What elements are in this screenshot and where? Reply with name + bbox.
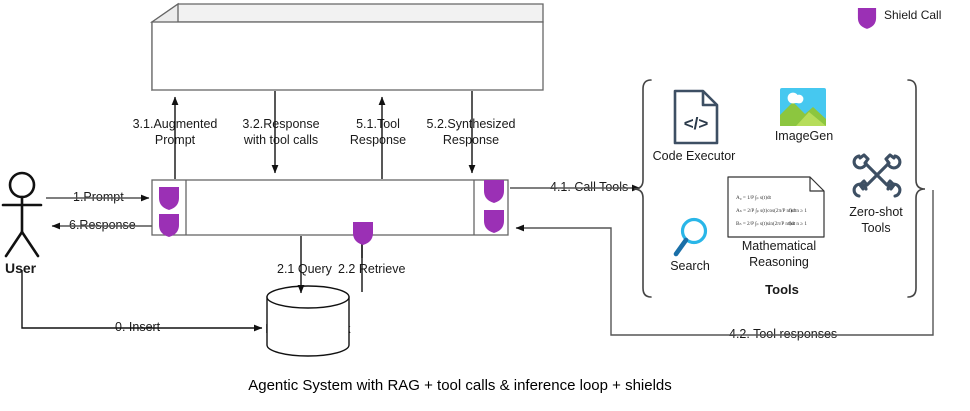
memory-bank-node: [267, 286, 349, 356]
user-executor-connectors: [46, 198, 152, 226]
svg-text:for n ≥ 1: for n ≥ 1: [789, 220, 807, 227]
executor-node: [152, 180, 508, 235]
user-node: [3, 173, 41, 256]
svg-text:Aₙ = 2/P ∫ₚ s(t)cos(2π/P nt)dt: Aₙ = 2/P ∫ₚ s(t)cos(2π/P nt)dt: [736, 207, 797, 214]
diagram-canvas: </> A₀ = 1/P ∫ₚ s(t)dt Aₙ = 2/P ∫ₚ s(t)c…: [0, 0, 970, 411]
svg-text:A₀ = 1/P ∫ₚ s(t)dt: A₀ = 1/P ∫ₚ s(t)dt: [736, 194, 772, 201]
svg-text:Bₙ = 2/P ∫ₚ s(t)sin(2π/P nt)dt: Bₙ = 2/P ∫ₚ s(t)sin(2π/P nt)dt: [736, 220, 796, 227]
code-document-icon: </>: [672, 88, 720, 151]
image-photo-icon: [780, 88, 826, 131]
magnifier-icon: [672, 216, 712, 263]
shield-icon-executor-in-2: [158, 212, 180, 243]
shield-icon-executor-out-1: [483, 178, 505, 209]
llm-node: [152, 4, 543, 90]
math-document-icon: A₀ = 1/P ∫ₚ s(t)dt Aₙ = 2/P ∫ₚ s(t)cos(2…: [727, 176, 825, 243]
shield-icon-legend: [857, 6, 877, 35]
svg-text:</>: </>: [684, 114, 709, 133]
crossed-wrenches-icon: [851, 150, 903, 207]
edge-4-2-tool-responses: [516, 190, 933, 335]
edge-0-insert: [22, 270, 262, 328]
tools-brace-right: [908, 80, 925, 297]
llm-executor-connectors: [175, 91, 472, 179]
shield-icon-executor-out-2: [483, 208, 505, 239]
tools-brace-left: [634, 80, 651, 297]
svg-text:for n ≥ 1: for n ≥ 1: [789, 207, 807, 214]
shield-icon-executor-memory: [352, 220, 374, 251]
